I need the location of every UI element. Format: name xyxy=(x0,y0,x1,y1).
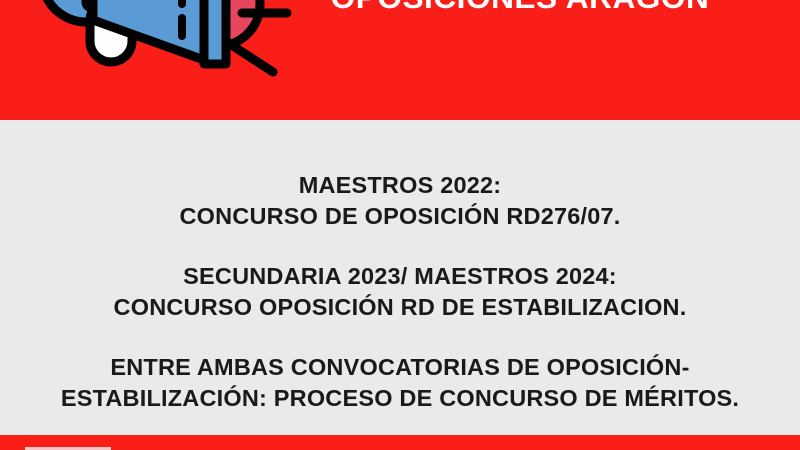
announcement-line-2: CONCURSO DE OPOSICIÓN RD276/07. xyxy=(0,201,800,232)
announcement-block-entre-ambas-convocatorias: ENTRE AMBAS CONVOCATORIAS DE OPOSICIÓN- … xyxy=(0,352,800,414)
footer-band xyxy=(0,435,800,450)
announcement-line-1: ENTRE AMBAS CONVOCATORIAS DE OPOSICIÓN- xyxy=(0,352,800,383)
page-title: OPOSICIONES ARAGÓN xyxy=(296,0,745,18)
announcement-line-2: CONCURSO OPOSICIÓN RD DE ESTABILIZACION. xyxy=(0,292,800,323)
main-content: MAESTROS 2022: CONCURSO DE OPOSICIÓN RD2… xyxy=(0,120,800,435)
announcement-block-maestros-2022: MAESTROS 2022: CONCURSO DE OPOSICIÓN RD2… xyxy=(0,170,800,232)
announcement-block-secundaria-2023-maestros-2024: SECUNDARIA 2023/ MAESTROS 2024: CONCURSO… xyxy=(0,261,800,323)
announcement-line-1: MAESTROS 2022: xyxy=(0,170,800,201)
megaphone-icon xyxy=(0,0,320,120)
header-band: OPOSICIONES ARAGÓN xyxy=(0,0,800,120)
slide-canvas: OPOSICIONES ARAGÓN MAESTROS 2022: CONCUR… xyxy=(0,0,800,450)
announcement-list: MAESTROS 2022: CONCURSO DE OPOSICIÓN RD2… xyxy=(0,170,800,414)
announcement-line-2: ESTABILIZACIÓN: PROCESO DE CONCURSO DE M… xyxy=(0,383,800,414)
announcement-line-1: SECUNDARIA 2023/ MAESTROS 2024: xyxy=(0,261,800,292)
